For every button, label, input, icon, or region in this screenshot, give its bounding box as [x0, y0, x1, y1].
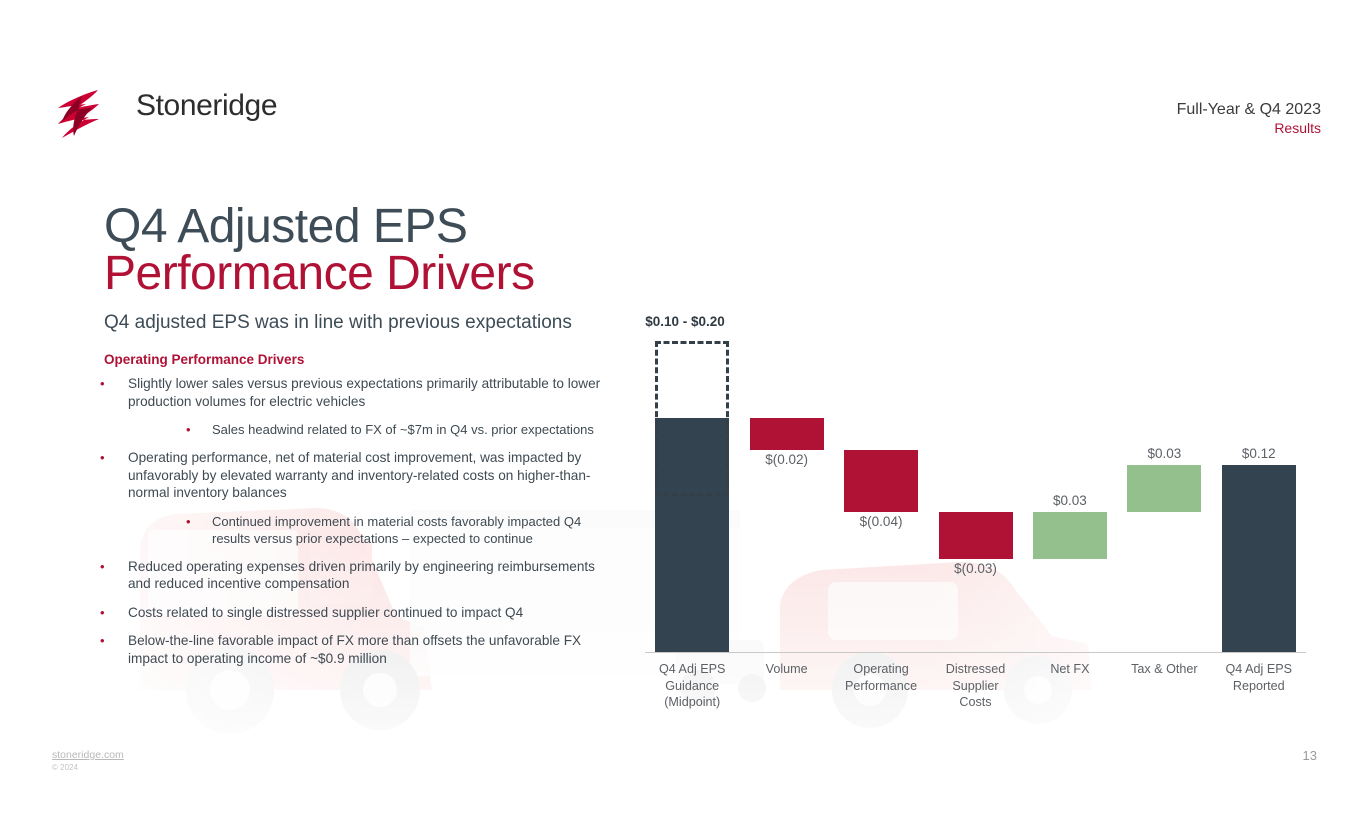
page-number: 13 — [1303, 748, 1317, 763]
chart-bar-tax-other — [1127, 465, 1201, 512]
bullet-item: •Costs related to single distressed supp… — [100, 604, 620, 622]
bullet-text: Continued improvement in material costs … — [212, 513, 620, 547]
chart-bar-distressed-supplier-costs — [939, 512, 1013, 559]
bullet-item: •Continued improvement in material costs… — [186, 513, 620, 547]
bullet-text: Sales headwind related to FX of ~$7m in … — [212, 421, 594, 438]
bullet-dot-icon: • — [100, 604, 128, 622]
bullet-text: Reduced operating expenses driven primar… — [128, 558, 620, 593]
bullet-text: Slightly lower sales versus previous exp… — [128, 375, 620, 410]
bullet-dot-icon: • — [186, 421, 212, 438]
page-title-line1: Q4 Adjusted EPS — [104, 203, 467, 251]
chart-baseline — [645, 652, 1306, 653]
slide-canvas: Stoneridge Full-Year & Q4 2023 Results Q… — [0, 0, 1365, 829]
chart-bar-operating-performance — [844, 450, 918, 512]
chart-bar-value-label: $0.03 — [1033, 493, 1107, 508]
bullet-dot-icon: • — [186, 513, 212, 547]
chart-bar-value-label: $(0.02) — [750, 452, 824, 467]
bullet-dot-icon: • — [100, 375, 128, 410]
deck-header: Full-Year & Q4 2023 Results — [1177, 100, 1321, 138]
guidance-range-box — [655, 341, 729, 497]
footer-copyright: © 2024 — [52, 763, 78, 772]
bullet-text: Operating performance, net of material c… — [128, 449, 620, 502]
chart-bar-value-label: $0.12 — [1222, 446, 1296, 461]
chart-category-label-line: Supplier — [921, 678, 1031, 695]
bullet-item: •Below-the-line favorable impact of FX m… — [100, 632, 620, 667]
page-subtitle: Q4 adjusted EPS was in line with previou… — [104, 312, 572, 334]
bullet-item: •Slightly lower sales versus previous ex… — [100, 375, 620, 410]
footer-website-link[interactable]: stoneridge.com — [52, 749, 124, 761]
bullet-dot-icon: • — [100, 449, 128, 502]
chart-category-label-line: Q4 Adj EPS — [1204, 661, 1314, 678]
bullet-item: •Sales headwind related to FX of ~$7m in… — [186, 421, 620, 438]
deck-header-subtitle: Results — [1177, 120, 1321, 138]
page-title-line2: Performance Drivers — [104, 250, 535, 298]
chart-bar-value-label: $(0.04) — [844, 514, 918, 529]
bullet-item: •Operating performance, net of material … — [100, 449, 620, 502]
deck-header-title: Full-Year & Q4 2023 — [1177, 100, 1321, 120]
guidance-range-label: $0.10 - $0.20 — [645, 314, 725, 329]
bullet-text: Below-the-line favorable impact of FX mo… — [128, 632, 620, 667]
stoneridge-wordmark: Stoneridge — [136, 89, 277, 123]
stoneridge-logo-mark — [52, 88, 100, 140]
bullet-item: •Reduced operating expenses driven prima… — [100, 558, 620, 593]
bullet-dot-icon: • — [100, 632, 128, 667]
stoneridge-logo: Stoneridge — [52, 86, 352, 142]
chart-bar-net-fx — [1033, 512, 1107, 559]
chart-bar-value-label: $0.03 — [1127, 446, 1201, 461]
chart-category-label-line: Reported — [1204, 678, 1314, 695]
bullet-list: •Slightly lower sales versus previous ex… — [100, 375, 620, 678]
eps-waterfall-chart: $(0.02)$(0.04)$(0.03)$0.03$0.03$0.12$0.1… — [645, 325, 1310, 715]
chart-category-label-line: Costs — [921, 694, 1031, 711]
bullet-text: Costs related to single distressed suppl… — [128, 604, 523, 622]
chart-category-label-line: (Midpoint) — [637, 694, 747, 711]
chart-plot-area: $(0.02)$(0.04)$(0.03)$0.03$0.03$0.12$0.1… — [645, 325, 1310, 655]
chart-category-label-line: Guidance — [637, 678, 747, 695]
chart-category-label: Q4 Adj EPSReported — [1204, 661, 1314, 694]
chart-bar-volume — [750, 418, 824, 449]
chart-bar-value-label: $(0.03) — [939, 561, 1013, 576]
section-heading: Operating Performance Drivers — [104, 352, 304, 367]
chart-bar-q4-adj-eps-reported — [1222, 465, 1296, 652]
bullet-dot-icon: • — [100, 558, 128, 593]
